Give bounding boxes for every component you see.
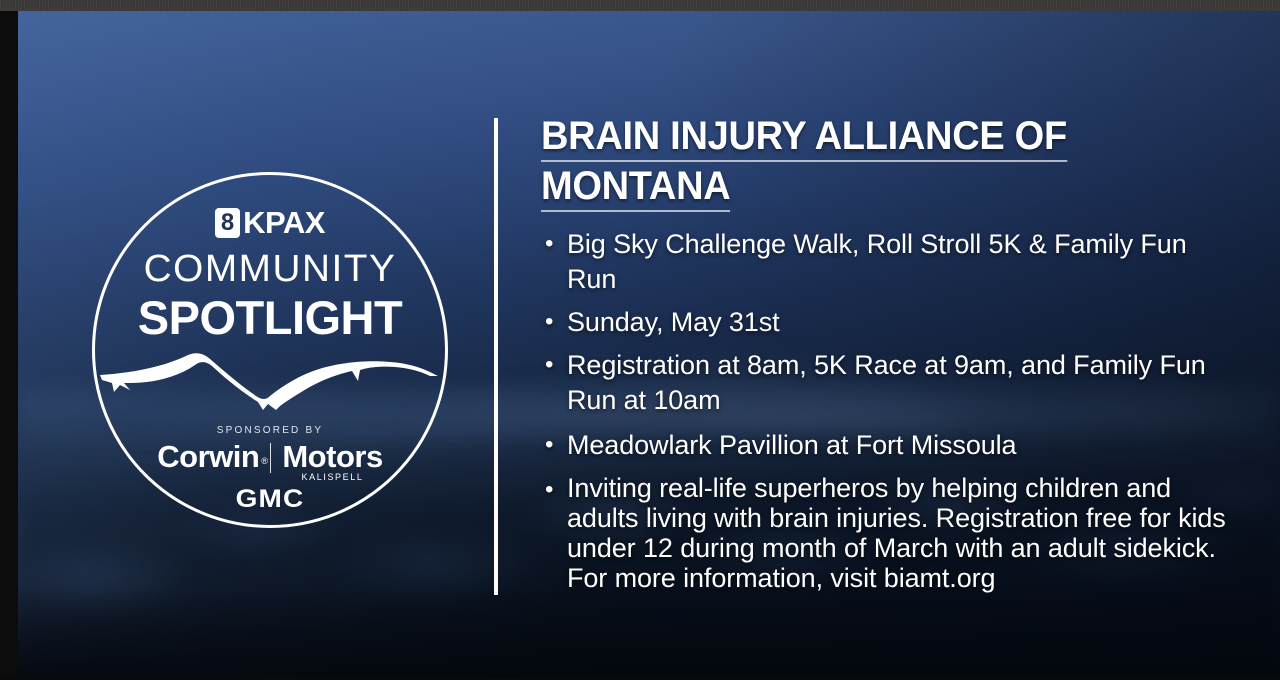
sponsor-wordmark: Corwin® Motors KALISPELL (92, 440, 448, 482)
list-item: Big Sky Challenge Walk, Roll Stroll 5K &… (541, 227, 1231, 297)
left-pillarbox (0, 11, 18, 680)
page-title: BRAIN INJURY ALLIANCE OF MONTANA (541, 111, 1197, 211)
video-frame: 8 KPAX COMMUNITY SPOTLIGHT SPONSORED BY … (18, 11, 1280, 677)
vertical-divider (494, 118, 498, 595)
top-letterbox-bar (0, 0, 1280, 11)
sponsor-motors-block: Motors KALISPELL (282, 440, 382, 482)
kpax-community-spotlight-logo: 8 KPAX COMMUNITY SPOTLIGHT SPONSORED BY … (92, 172, 448, 528)
mountain-range-icon (90, 340, 450, 412)
list-item: Sunday, May 31st (541, 305, 1231, 340)
info-panel: BRAIN INJURY ALLIANCE OF MONTANA Big Sky… (541, 111, 1231, 601)
sponsor-trademark-icon: ® (261, 444, 267, 478)
station-callsign: KPAX (243, 208, 325, 238)
sponsor-make-gmc: GMC (71, 485, 470, 514)
list-item: Meadowlark Pavillion at Fort Missoula (541, 428, 1231, 463)
sponsor-name-motors: Motors (282, 439, 382, 474)
event-details-list: Big Sky Challenge Walk, Roll Stroll 5K &… (541, 227, 1231, 593)
sponsor-divider (270, 443, 271, 473)
list-item: Registration at 8am, 5K Race at 9am, and… (541, 348, 1231, 418)
broadcast-lower-third-screen: 8 KPAX COMMUNITY SPOTLIGHT SPONSORED BY … (0, 0, 1280, 680)
list-item: Inviting real-life superheros by helping… (541, 473, 1231, 593)
page-title-text: BRAIN INJURY ALLIANCE OF MONTANA (541, 114, 1067, 212)
sponsored-by-label: SPONSORED BY (92, 425, 448, 436)
program-title-line2: SPOTLIGHT (92, 290, 448, 345)
kpax-wordmark: 8 KPAX (92, 208, 448, 238)
sponsor-name-corwin: Corwin® (157, 440, 259, 474)
program-title-line1: COMMUNITY (88, 248, 451, 291)
sponsor-name-corwin-text: Corwin (157, 439, 259, 474)
channel-number-badge: 8 (215, 208, 240, 238)
